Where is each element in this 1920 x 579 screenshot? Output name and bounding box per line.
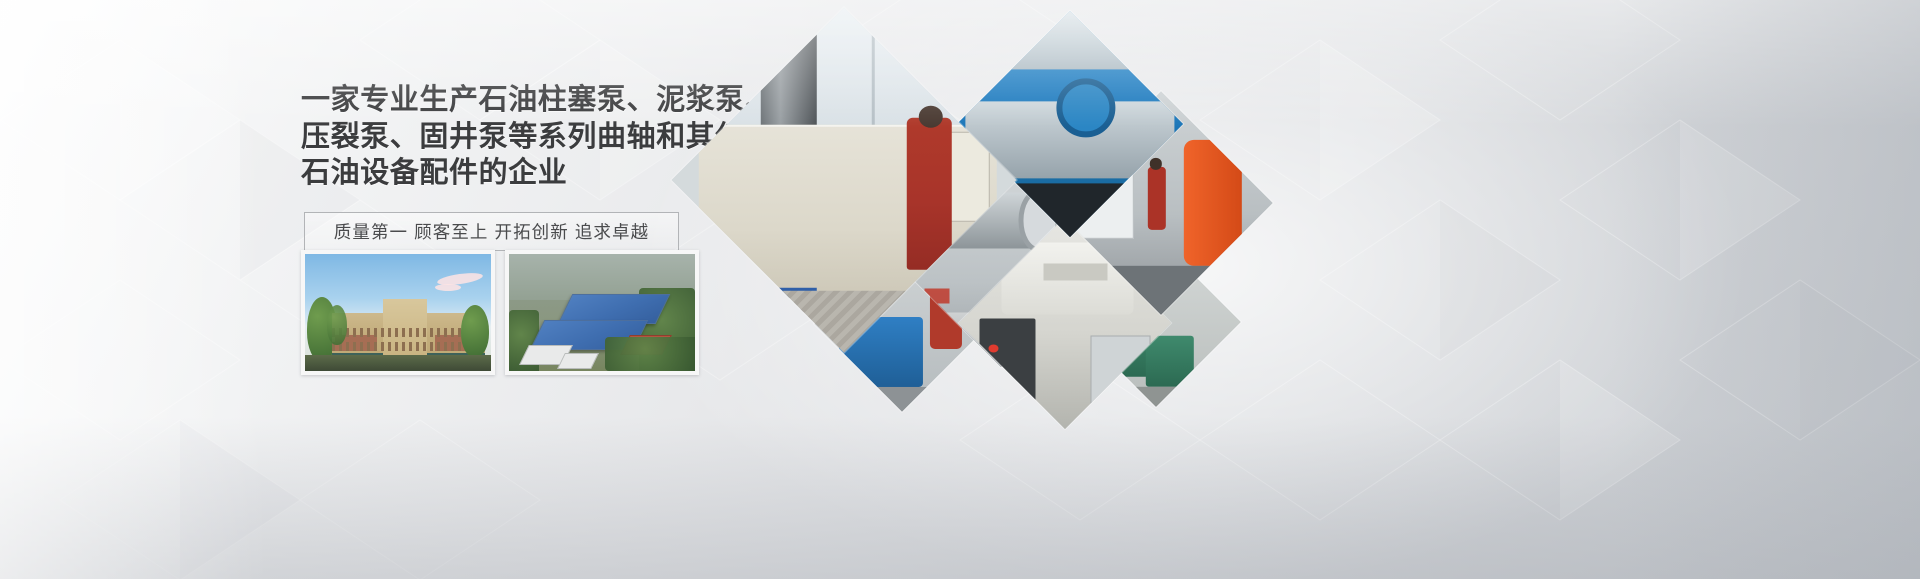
handwheel-shape <box>1056 79 1115 138</box>
white-building <box>557 353 599 369</box>
photo-thumbnail-row <box>301 250 699 375</box>
control-cabinet <box>980 319 1035 417</box>
ground-strip <box>305 355 491 371</box>
orange-tank-shape <box>1183 140 1241 266</box>
office-building-photo[interactable] <box>301 250 495 375</box>
slogan-text: 质量第一 顾客至上 开拓创新 追求卓越 <box>334 219 650 244</box>
cloud-shape <box>435 284 461 291</box>
office-building-image <box>305 254 491 371</box>
headline-line-1: 一家专业生产石油柱塞泵、泥浆泵、 <box>301 82 721 119</box>
hero-text-block: 一家专业生产石油柱塞泵、泥浆泵、 压裂泵、固井泵等系列曲轴和其他 石油设备配件的… <box>301 82 721 251</box>
company-hero-banner: 一家专业生产石油柱塞泵、泥浆泵、 压裂泵、固井泵等系列曲轴和其他 石油设备配件的… <box>0 0 1920 579</box>
indicator-light-green <box>988 378 999 387</box>
tree-shape <box>327 305 347 345</box>
machine-column <box>761 17 816 142</box>
floor-strip <box>814 387 989 411</box>
aerial-factory-image <box>509 254 695 371</box>
tree-grove <box>605 337 695 371</box>
machine-arm <box>1044 263 1108 280</box>
worker-figure <box>906 118 951 270</box>
tree-shape <box>461 305 489 357</box>
worker-head <box>919 106 943 129</box>
aerial-factory-photo[interactable] <box>505 250 699 375</box>
worker-head <box>1150 158 1162 169</box>
diamond-photo-collage <box>690 36 1290 416</box>
slogan-box: 质量第一 顾客至上 开拓创新 追求卓越 <box>304 212 679 251</box>
worker-figure <box>1148 167 1166 230</box>
page-title: 一家专业生产石油柱塞泵、泥浆泵、 压裂泵、固井泵等系列曲轴和其他 石油设备配件的… <box>301 82 721 192</box>
headline-line-3: 石油设备配件的企业 <box>301 155 721 192</box>
headline-line-2: 压裂泵、固井泵等系列曲轴和其他 <box>301 119 721 156</box>
green-drum-shape <box>1146 336 1194 387</box>
